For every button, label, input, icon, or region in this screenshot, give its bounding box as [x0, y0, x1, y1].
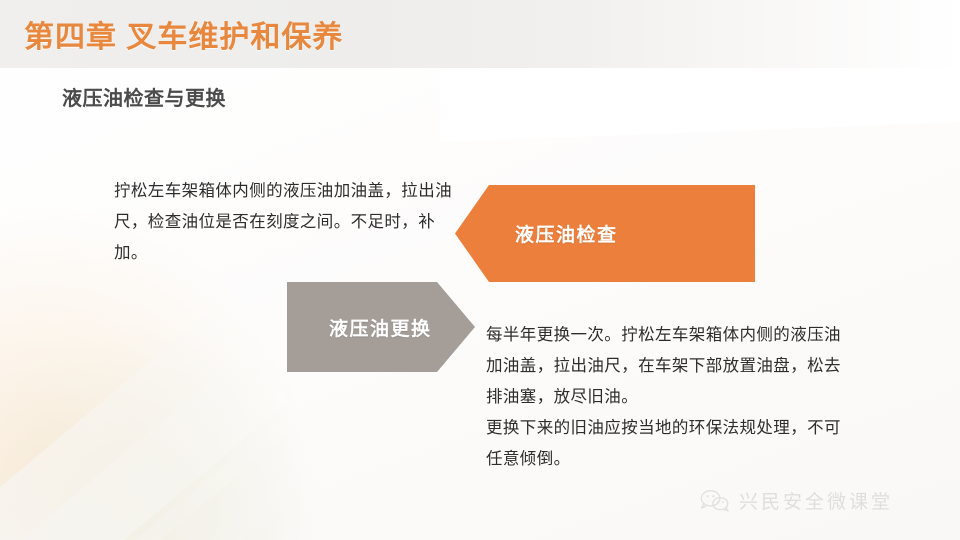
- paragraph-replacement: 每半年更换一次。拧松左车架箱体内侧的液压油加油盖，拉出油尺，在车架下部放置油盘，…: [486, 320, 856, 475]
- banner-hydraulic-oil-replacement[interactable]: 液压油更换: [287, 282, 475, 372]
- section-subtitle: 液压油检查与更换: [62, 82, 226, 111]
- paragraph-replacement-line1: 每半年更换一次。拧松左车架箱体内侧的液压油加油盖，拉出油尺，在车架下部放置油盘，…: [486, 320, 856, 413]
- page-title: 第四章 叉车维护和保养: [24, 12, 343, 56]
- banner-label: 液压油更换: [329, 314, 432, 341]
- paragraph-replacement-line2: 更换下来的旧油应按当地的环保法规处理，不可任意倾倒。: [486, 413, 856, 475]
- paragraph-inspection: 拧松左车架箱体内侧的液压油加油盖，拉出油尺，检查油位是否在刻度之间。不足时，补加…: [114, 176, 460, 269]
- banner-hydraulic-oil-inspection[interactable]: 液压油检查: [455, 185, 755, 282]
- watermark-label: 兴民安全微课堂: [739, 487, 893, 514]
- banner-label: 液压油检查: [515, 220, 618, 247]
- wechat-icon: [700, 488, 730, 514]
- watermark: 兴民安全微课堂: [700, 487, 893, 514]
- slide-canvas: 第四章 叉车维护和保养 液压油检查与更换 拧松左车架箱体内侧的液压油加油盖，拉出…: [0, 0, 960, 540]
